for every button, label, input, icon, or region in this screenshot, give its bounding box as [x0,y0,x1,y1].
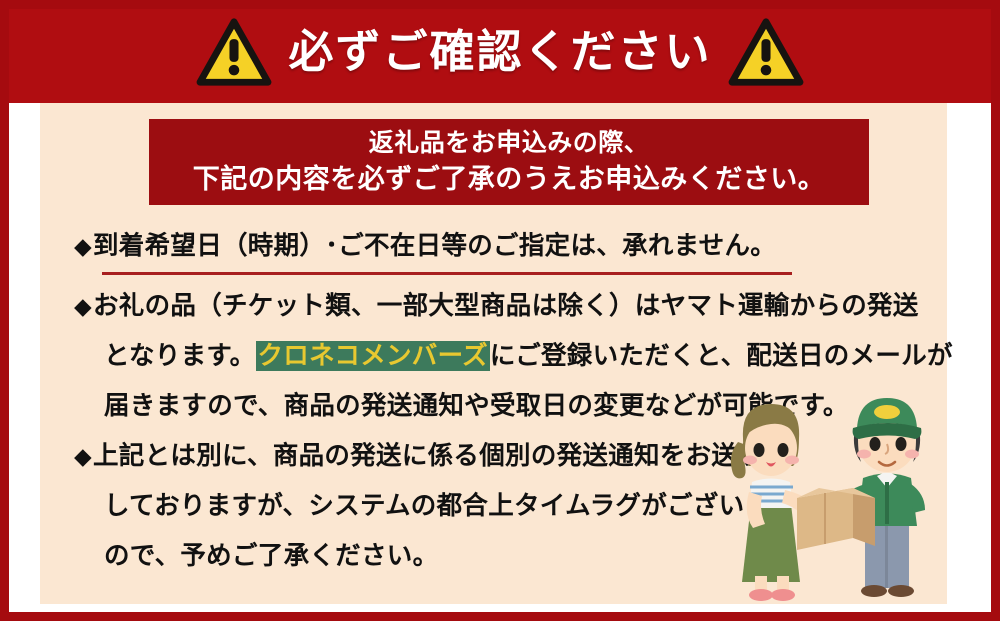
bullet-marker: ◆ [74,293,92,319]
notice-item-3-line-1: 上記とは別に、商品の発送に係る個別の発送通知をお送り [93,442,763,470]
subtitle-line-1: 返礼品をお申込みの際、 [369,128,650,159]
notice-item-1: ◆到着希望日（時期）･ご不在日等のご指定は、承れません。 [74,221,914,271]
banner-header: 必ずご確認ください [0,0,1000,103]
warning-triangle-icon [728,18,804,86]
page-title: 必ずご確認ください [288,29,711,74]
content-panel: 返礼品をお申込みの際、 下記の内容を必ずご了承のうえお申込みください。 ◆到着希… [40,103,947,604]
notice-item-2-line-2-pre: となります。 [104,342,256,370]
notice-item-1-underline [102,272,792,275]
notice-banner: 必ずご確認ください 返礼品をお申込みの際、 下記の内容を必ずご了承のうえお申込み… [0,0,1000,621]
notice-item-2: ◆お礼の品（チケット類、一部大型商品は除く）はヤマト運輸からの発送 [74,281,914,331]
notice-item-2-line-1: お礼の品（チケット類、一部大型商品は除く）はヤマト運輸からの発送 [93,292,919,320]
bullet-marker: ◆ [74,443,92,469]
cardboard-box-icon [797,488,875,550]
notice-item-2-line-2: となります。クロネコメンバーズにご登録いただくと、配送日のメールが [74,331,914,381]
subtitle-line-2: 下記の内容を必ずご了承のうえお申込みください。 [193,163,826,197]
warning-triangle-icon [196,18,272,86]
subtitle-box: 返礼品をお申込みの際、 下記の内容を必ずご了承のうえお申込みください。 [149,119,869,205]
delivery-handover-illustration [725,386,947,604]
notice-item-2-line-2-post: にご登録いただくと、配送日のメールが [490,342,953,370]
kuroneko-members-highlight: クロネコメンバーズ [256,341,490,371]
bullet-marker: ◆ [74,233,92,259]
notice-item-1-line-1: 到着希望日（時期）･ご不在日等のご指定は、承れません。 [93,232,776,260]
